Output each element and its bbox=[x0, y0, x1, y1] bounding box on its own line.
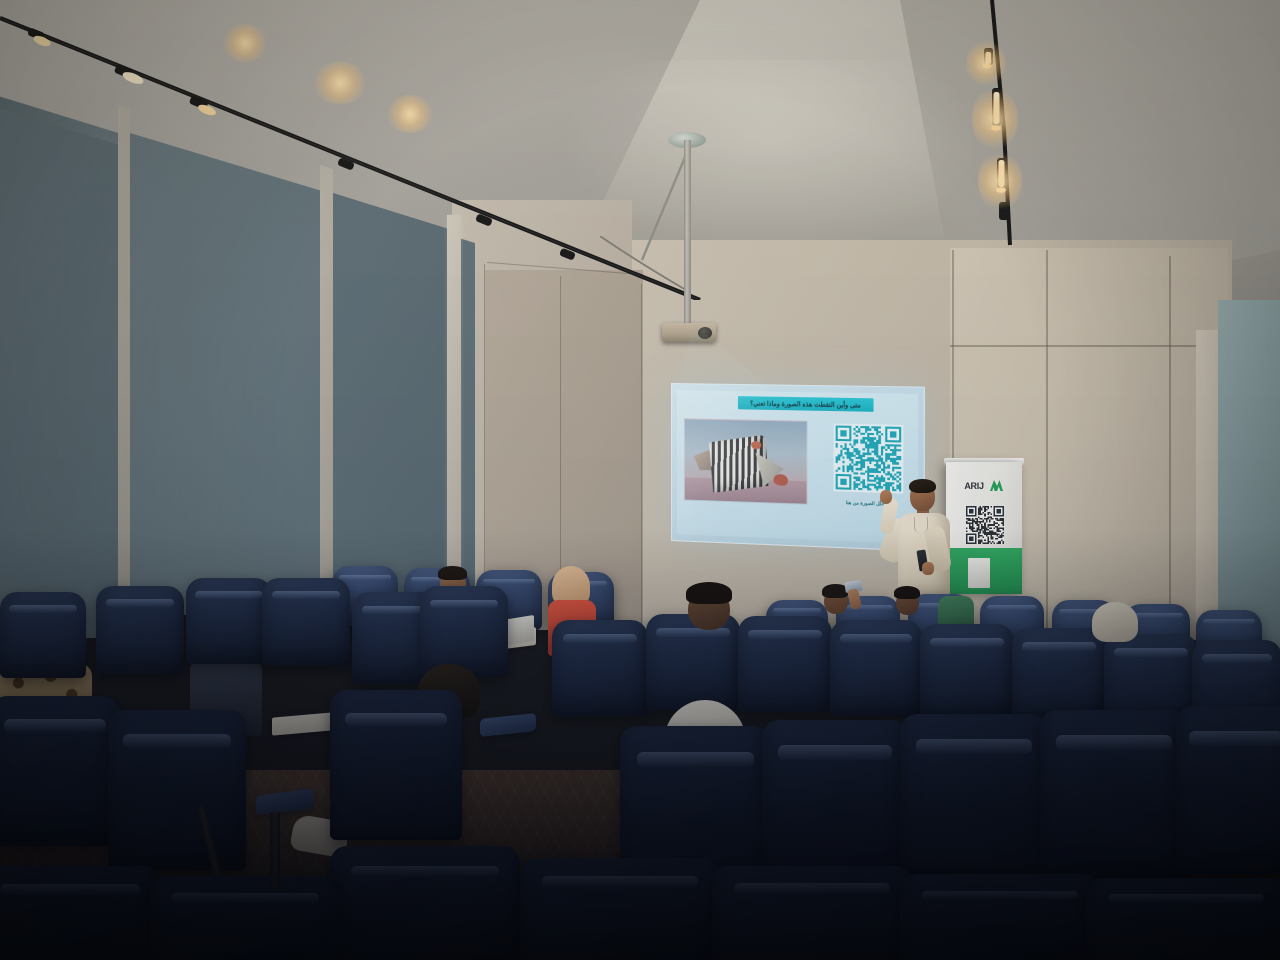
seat bbox=[646, 614, 740, 710]
seat bbox=[1176, 706, 1280, 874]
seat bbox=[712, 866, 912, 960]
seat bbox=[330, 846, 520, 960]
banner-qr-code bbox=[966, 506, 1004, 544]
banner-logo-text: ARIJ bbox=[964, 481, 983, 491]
banner-logo-mark-icon bbox=[989, 479, 1004, 492]
attendee-hair bbox=[438, 566, 467, 580]
banner-qr-pattern bbox=[966, 506, 1004, 544]
seat bbox=[552, 620, 648, 716]
seat bbox=[262, 578, 350, 666]
seat-leg bbox=[270, 812, 280, 890]
window-mullion bbox=[447, 215, 461, 595]
seat bbox=[762, 720, 908, 886]
seat-armrest bbox=[480, 713, 536, 737]
attendee-hair bbox=[686, 582, 732, 604]
blackout-blind-panel bbox=[330, 192, 452, 597]
attendee-hair bbox=[894, 586, 920, 599]
presenter-hair bbox=[909, 479, 936, 493]
blackout-blind-panel bbox=[0, 108, 122, 638]
banner-footer-card bbox=[968, 558, 990, 588]
window-mullion bbox=[118, 105, 130, 645]
seat bbox=[150, 876, 340, 960]
seat bbox=[0, 866, 160, 960]
attendee-hijab bbox=[1092, 602, 1138, 642]
slide-photo bbox=[684, 418, 808, 505]
wall-seam bbox=[1169, 256, 1171, 638]
seat bbox=[920, 624, 1014, 720]
wall-seam bbox=[641, 284, 642, 630]
wall-seam bbox=[1046, 250, 1048, 640]
seat bbox=[830, 620, 922, 716]
seat bbox=[900, 874, 1100, 960]
blackout-blind-panel bbox=[130, 133, 322, 633]
presenter-hand-holding-phone bbox=[922, 562, 934, 575]
seat bbox=[0, 696, 120, 846]
seat bbox=[520, 858, 720, 960]
window-mullion bbox=[320, 165, 333, 620]
projector-lens bbox=[698, 327, 712, 339]
auditorium-photo: متى وأين التقطت هذه الصورة وماذا تعني؟ ح… bbox=[0, 0, 1280, 960]
rescue-boat bbox=[751, 441, 761, 449]
seat bbox=[330, 690, 462, 840]
seat bbox=[900, 714, 1048, 882]
seat bbox=[420, 586, 508, 676]
seat bbox=[108, 710, 246, 870]
presenter-hand-raised bbox=[880, 490, 892, 504]
seat bbox=[1086, 878, 1280, 960]
seat bbox=[0, 592, 86, 678]
wall-seam bbox=[950, 345, 1228, 347]
seat bbox=[738, 616, 832, 712]
slide-title-bar: متى وأين التقطت هذه الصورة وماذا تعني؟ bbox=[738, 396, 874, 412]
projector-drop-pole bbox=[684, 140, 691, 330]
seat bbox=[96, 586, 184, 674]
seat bbox=[186, 578, 272, 664]
slide-title-text: متى وأين التقطت هذه الصورة وماذا تعني؟ bbox=[750, 399, 861, 409]
seat bbox=[1040, 710, 1188, 878]
